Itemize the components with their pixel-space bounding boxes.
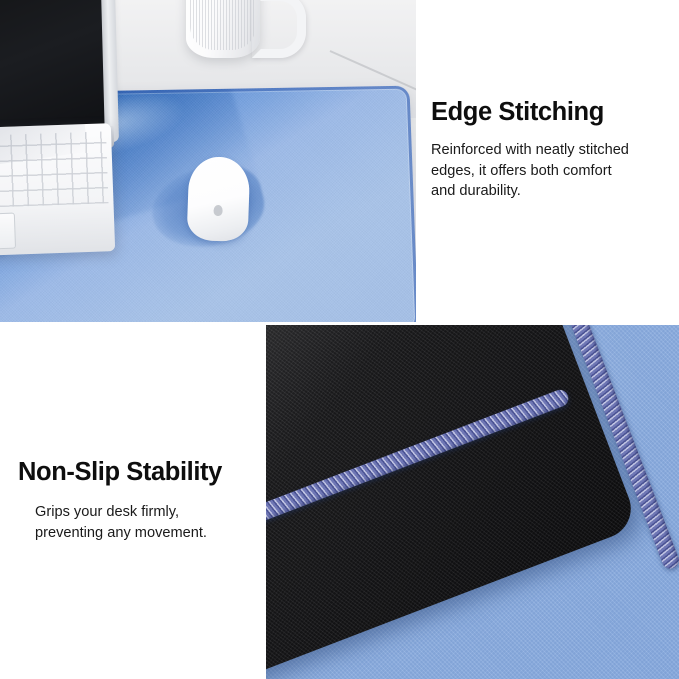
- keyboard-trackpad: [0, 213, 16, 251]
- feature-block-non-slip-stability: Non-Slip Stability Grips your desk firml…: [18, 458, 264, 543]
- feature-block-edge-stitching: Edge Stitching Reinforced with neatly st…: [431, 98, 671, 202]
- collage-canvas: Edge Stitching Reinforced with neatly st…: [0, 0, 679, 679]
- feature-heading-non-slip-stability: Non-Slip Stability: [18, 458, 264, 486]
- feature-description-non-slip-stability: Grips your desk firmly, preventing any m…: [35, 502, 264, 543]
- mouse-logo-icon: [213, 205, 222, 216]
- feature-description-line: preventing any movement.: [35, 523, 264, 544]
- feature-description-line: Grips your desk firmly,: [35, 502, 264, 523]
- white-mouse: [187, 156, 251, 242]
- feature-heading-edge-stitching: Edge Stitching: [431, 98, 671, 126]
- feature-description-edge-stitching: Reinforced with neatly stitched edges, i…: [431, 140, 671, 202]
- coffee-mug: [186, 0, 260, 58]
- mug-handle: [252, 0, 306, 58]
- feature-description-line: edges, it offers both comfort: [431, 161, 671, 182]
- feature-description-line: and durability.: [431, 181, 671, 202]
- white-keyboard: [0, 123, 115, 257]
- pad-corner-closeup-photo: [266, 325, 679, 679]
- desk-setup-photo: [0, 0, 416, 322]
- monitor-screen: [0, 0, 112, 138]
- feature-description-line: Reinforced with neatly stitched: [431, 140, 671, 161]
- mug-ribbed-texture: [190, 0, 256, 50]
